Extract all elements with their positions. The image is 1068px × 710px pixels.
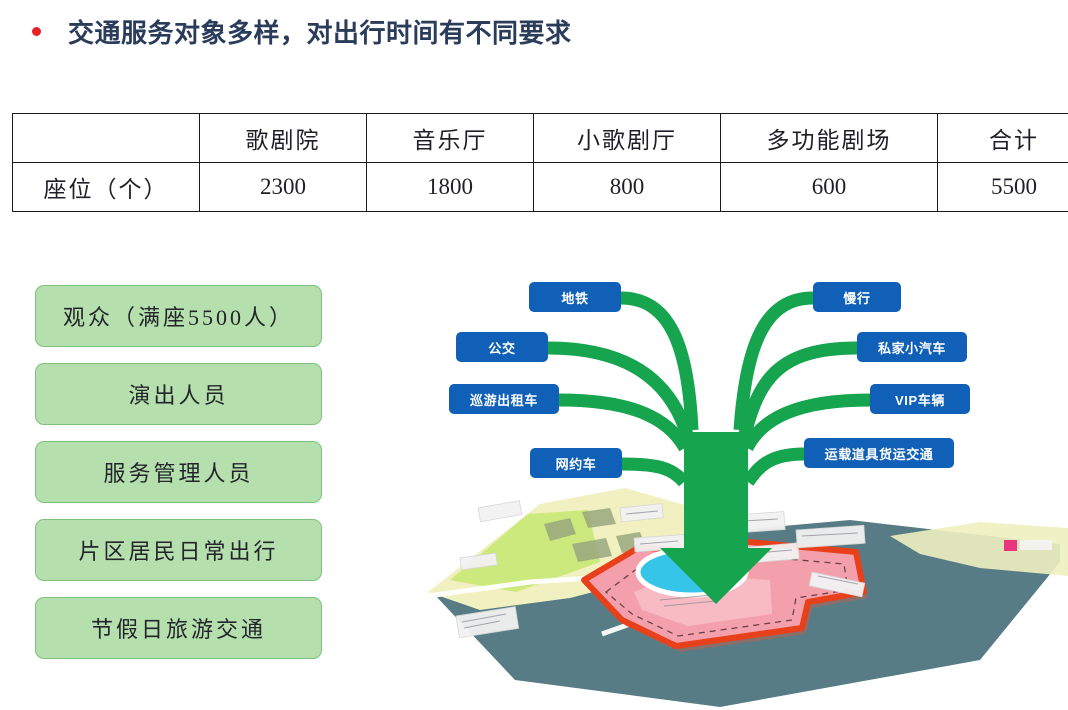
mode-label-ride-hailing[interactable]: 网约车 [530, 448, 622, 478]
mode-label-cruising-taxi[interactable]: 巡游出租车 [449, 384, 559, 414]
audience-group-label: 节假日旅游交通 [91, 612, 266, 644]
mode-label-text: 地铁 [561, 288, 588, 307]
slide-title-row: 交通服务对象多样，对出行时间有不同要求 [0, 0, 1068, 62]
audience-group-label: 片区居民日常出行 [78, 534, 278, 566]
mode-label-slow-traffic[interactable]: 慢行 [813, 282, 901, 312]
table-row: 座位（个） 2300 1800 800 600 5500 [13, 163, 1068, 212]
mode-label-vip-vehicle[interactable]: VIP车辆 [870, 384, 970, 414]
mode-label-text: VIP车辆 [895, 390, 945, 409]
table-header-multifunction-theater: 多功能剧场 [721, 114, 938, 163]
mode-label-bus[interactable]: 公交 [456, 332, 548, 362]
bullet-icon [32, 27, 41, 36]
flow-line-ride-hailing [622, 464, 684, 482]
table-header-row: 歌剧院 音乐厅 小歌剧厅 多功能剧场 合计 [13, 114, 1068, 163]
table-cell-seats-small-opera-hall: 800 [534, 163, 721, 212]
diagram-graphics [420, 262, 1068, 710]
mode-label-text: 公交 [488, 338, 515, 357]
audience-group-label: 服务管理人员 [103, 456, 253, 488]
audience-group-label: 演出人员 [128, 378, 228, 410]
list-item: 服务管理人员 [35, 441, 322, 503]
table-cell-seats-opera-house: 2300 [200, 163, 367, 212]
table-header-small-opera-hall: 小歌剧厅 [534, 114, 721, 163]
audience-group-list: 观众（满座5500人） 演出人员 服务管理人员 片区居民日常出行 节假日旅游交通 [35, 285, 322, 675]
list-item: 观众（满座5500人） [35, 285, 322, 347]
mode-label-text: 网约车 [556, 454, 597, 473]
mode-label-text: 巡游出租车 [470, 390, 538, 409]
mode-label-subway[interactable]: 地铁 [529, 282, 621, 312]
mode-label-text: 慢行 [843, 288, 870, 307]
far-landmass-marker [1004, 540, 1017, 551]
flow-line-taxi [559, 400, 685, 448]
table-header-corner [13, 114, 200, 163]
list-item: 演出人员 [35, 363, 322, 425]
list-item: 片区居民日常出行 [35, 519, 322, 581]
list-item: 节假日旅游交通 [35, 597, 322, 659]
table-header-concert-hall: 音乐厅 [367, 114, 534, 163]
transport-convergence-diagram: 地铁 公交 巡游出租车 网约车 慢行 私家小汽车 VIP车辆 运载道具货运交通 [420, 262, 1068, 710]
table-row-label-seats: 座位（个） [13, 163, 200, 212]
table-header-opera-house: 歌剧院 [200, 114, 367, 163]
mode-label-text: 私家小汽车 [878, 338, 946, 357]
page-title: 交通服务对象多样，对出行时间有不同要求 [68, 13, 572, 50]
table-cell-seats-multifunction-theater: 600 [721, 163, 938, 212]
table-header-total: 合计 [938, 114, 1068, 163]
audience-group-label: 观众（满座5500人） [63, 300, 294, 332]
mode-label-freight[interactable]: 运载道具货运交通 [804, 438, 954, 468]
flow-line-freight [748, 454, 804, 482]
mode-label-private-car[interactable]: 私家小汽车 [857, 332, 967, 362]
table-cell-seats-total: 5500 [938, 163, 1068, 212]
far-landmass-marker-label [1020, 540, 1052, 550]
mode-label-text: 运载道具货运交通 [825, 444, 934, 463]
seat-capacity-table: 歌剧院 音乐厅 小歌剧厅 多功能剧场 合计 座位（个） 2300 1800 80… [12, 113, 1068, 212]
table-cell-seats-concert-hall: 1800 [367, 163, 534, 212]
